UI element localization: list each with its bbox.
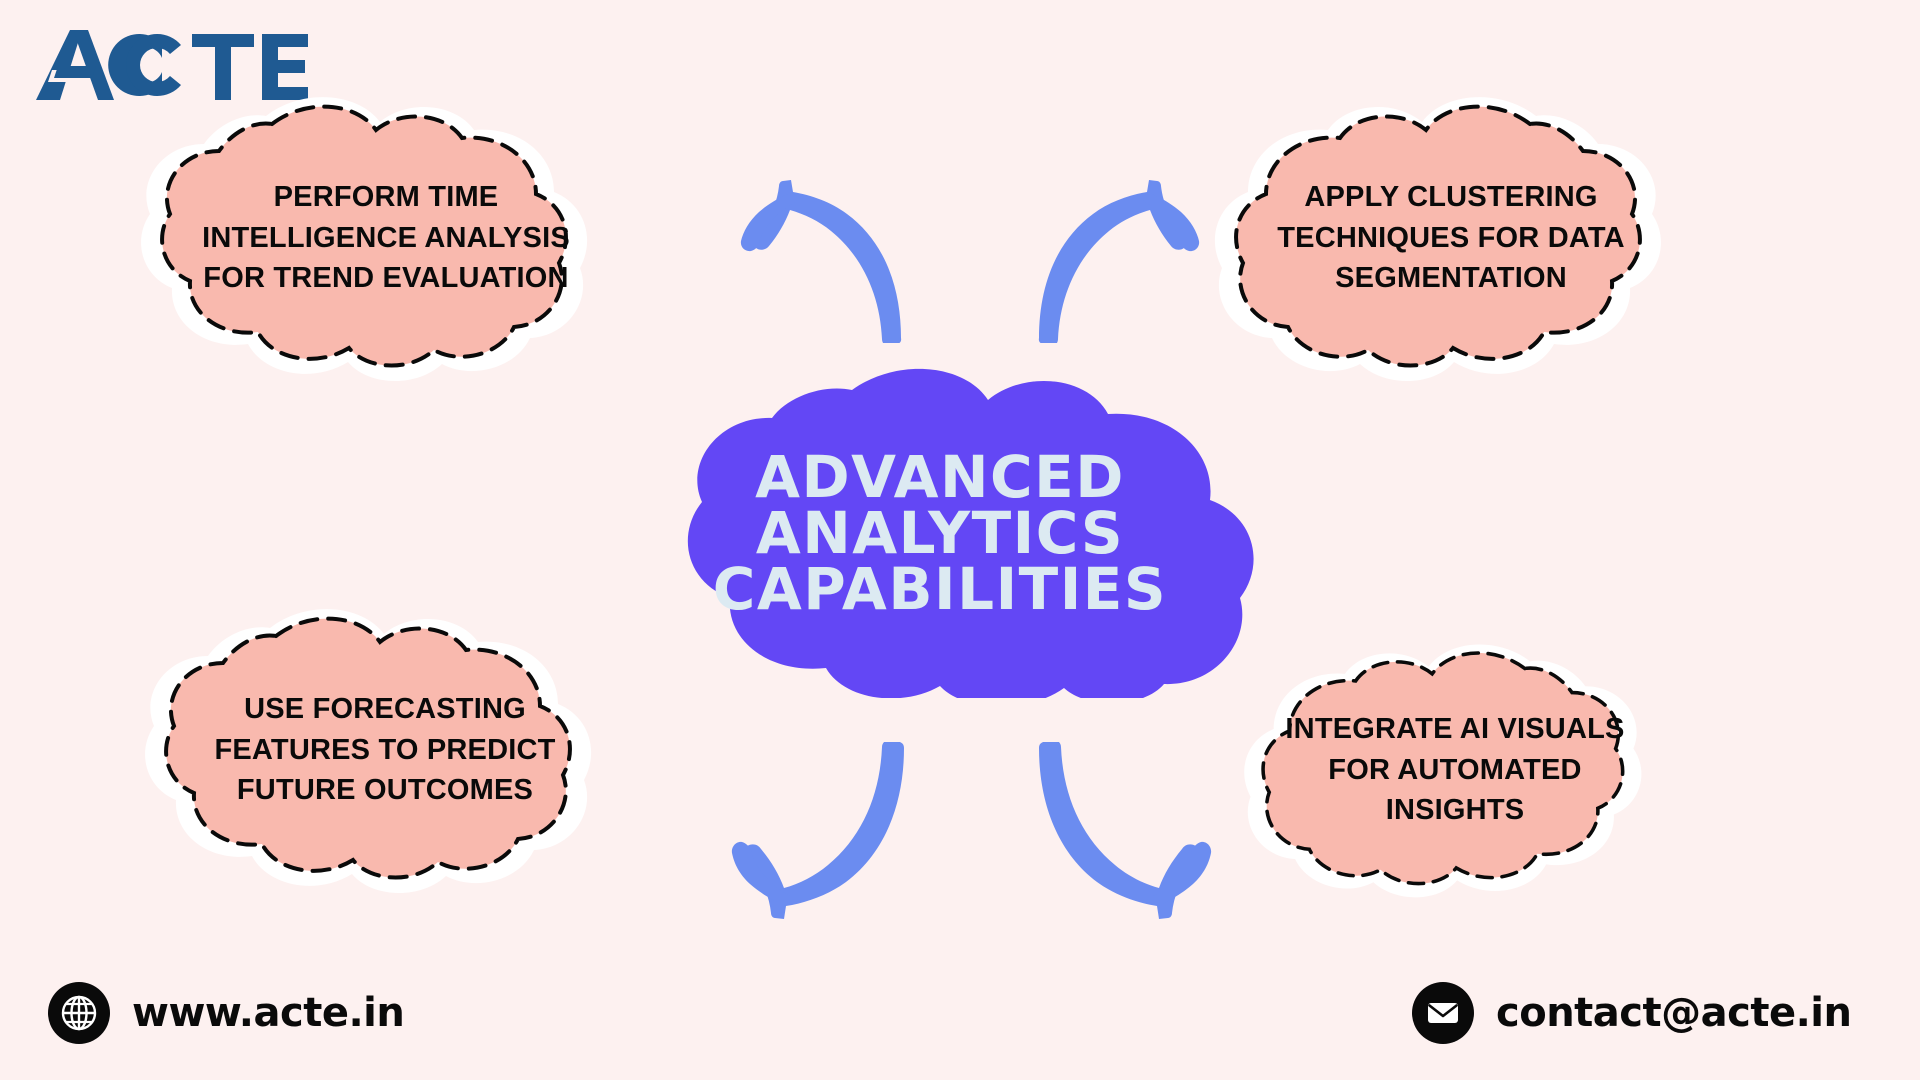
- cloud-shape: [106, 92, 606, 384]
- cloud-shape: [110, 604, 610, 896]
- node-cloud-top-right[interactable]: APPLY CLUSTERING TECHNIQUES FOR DATA SEG…: [1196, 92, 1696, 384]
- curved-arrow-down-right-icon: [1020, 742, 1215, 922]
- curved-arrow-down-left-icon: [728, 742, 923, 922]
- footer-email[interactable]: contact@acte.in: [1412, 982, 1851, 1044]
- center-cloud[interactable]: ADVANCED ANALYTICS CAPABILITIES: [620, 368, 1260, 698]
- website-label: www.acte.in: [132, 990, 404, 1036]
- email-label: contact@acte.in: [1496, 990, 1851, 1036]
- envelope-icon: [1412, 982, 1474, 1044]
- center-cloud-shape: [620, 368, 1260, 698]
- infographic-canvas: PERFORM TIME INTELLIGENCE ANALYSIS FOR T…: [0, 0, 1920, 1080]
- curved-arrow-up-left-icon: [735, 178, 920, 343]
- cloud-shape: [1196, 92, 1696, 384]
- globe-icon: [48, 982, 110, 1044]
- cloud-shape: [1200, 640, 1700, 900]
- curved-arrow-up-right-icon: [1020, 178, 1205, 343]
- node-cloud-bottom-left[interactable]: USE FORECASTING FEATURES TO PREDICT FUTU…: [110, 604, 610, 896]
- node-cloud-top-left[interactable]: PERFORM TIME INTELLIGENCE ANALYSIS FOR T…: [106, 92, 606, 384]
- footer-website[interactable]: www.acte.in: [48, 982, 404, 1044]
- node-cloud-bottom-right[interactable]: INTEGRATE AI VISUALS FOR AUTOMATED INSIG…: [1200, 640, 1700, 900]
